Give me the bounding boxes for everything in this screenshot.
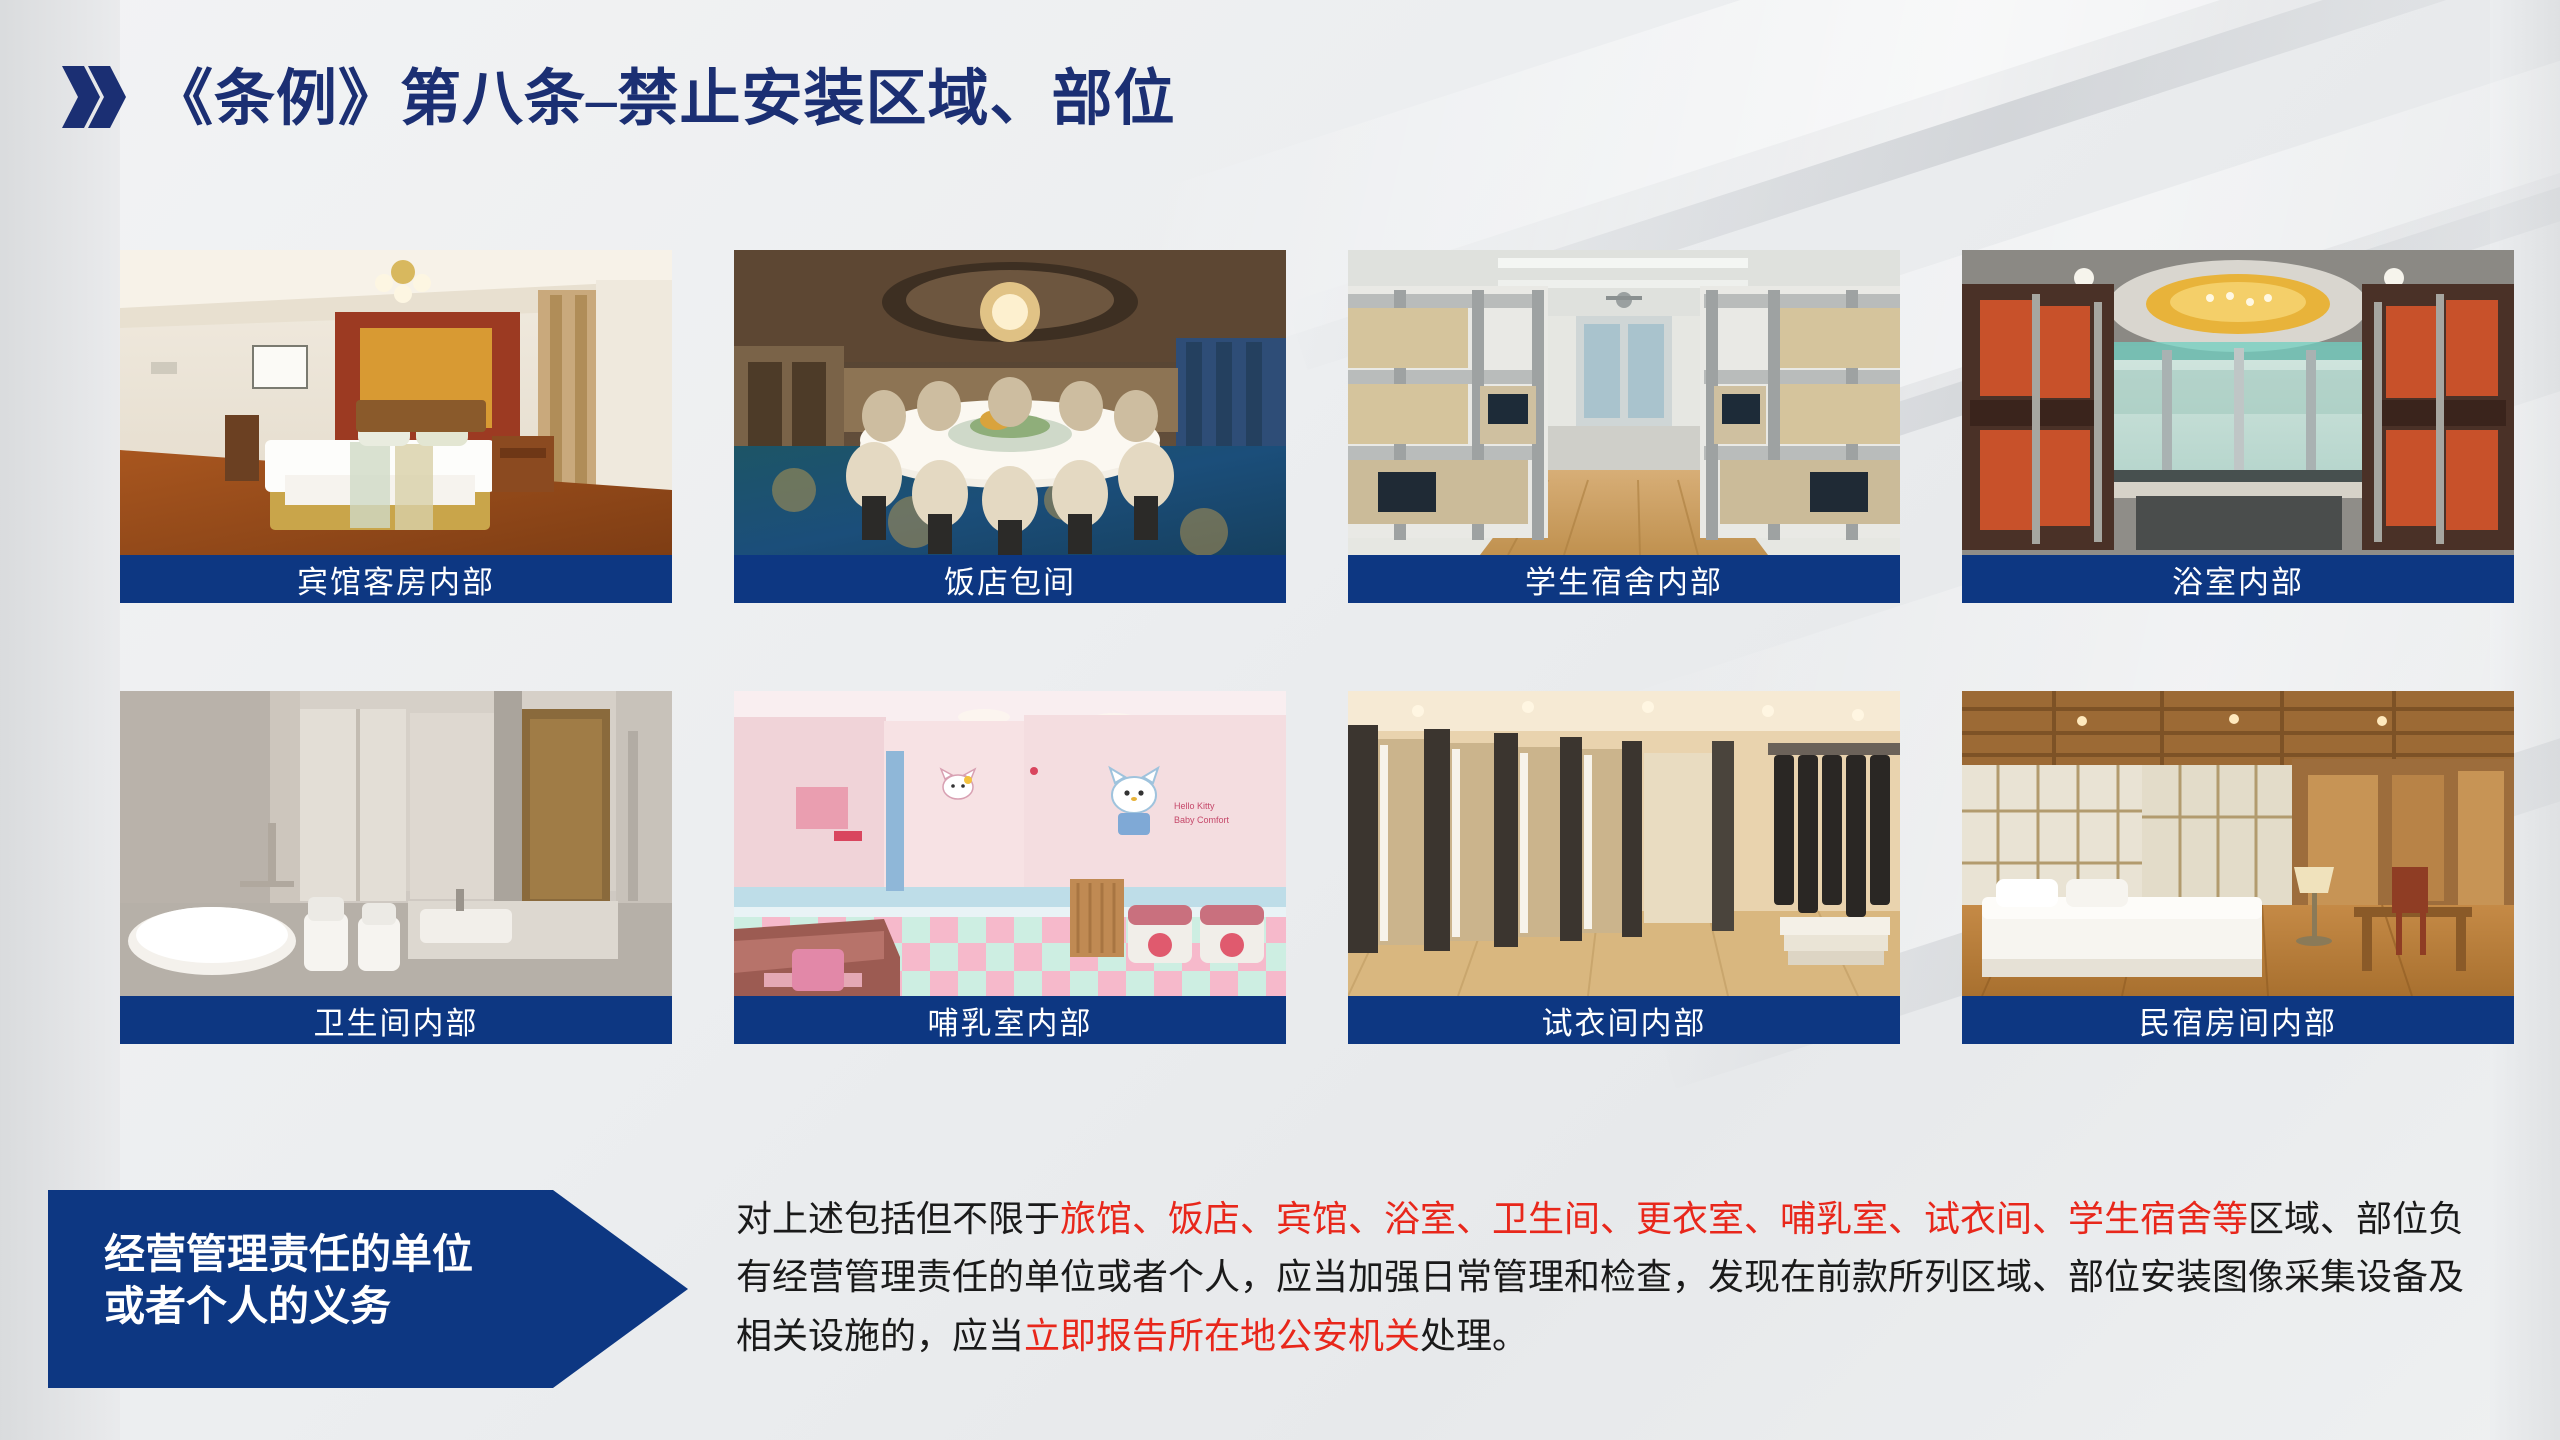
callout-label-line-1: 经营管理责任的单位 [104,1228,574,1280]
thumbnail-nursing-room: Hello Kitty Baby Comfort [734,691,1286,996]
image-grid-row-2: 卫生间内部 [120,691,2450,1044]
card-caption: 浴室内部 [1962,555,2514,603]
card-caption: 哺乳室内部 [734,996,1286,1044]
card-nursing-room[interactable]: Hello Kitty Baby Comfort [734,691,1286,1044]
card-homestay-bedroom[interactable]: 民宿房间内部 [1962,691,2514,1044]
card-bathhouse-shower-room[interactable]: 浴室内部 [1962,250,2514,603]
thumbnail-bathhouse-shower-room [1962,250,2514,555]
thumbnail-toilet-washroom [120,691,672,996]
card-caption: 学生宿舍内部 [1348,555,1900,603]
paragraph-highlight-run: 旅馆、饭店、宾馆、浴室、卫生间、更衣室、哺乳室、试衣间、学生宿舍等 [1060,1199,2248,1239]
callout-arrow-label: 经营管理责任的单位 或者个人的义务 [104,1228,574,1333]
image-grid-row-1: 宾馆客房内部 [120,250,2450,603]
page-title: 《条例》第八条–禁止安装区域、部位 [152,69,1176,130]
thumbnail-restaurant-private-room [734,250,1286,555]
card-student-dormitory[interactable]: 学生宿舍内部 [1348,250,1900,603]
card-caption: 试衣间内部 [1348,996,1900,1044]
thumbnail-hotel-guest-room [120,250,672,555]
card-hotel-guest-room[interactable]: 宾馆客房内部 [120,250,672,603]
card-caption: 宾馆客房内部 [120,555,672,603]
thumbnail-student-dormitory [1348,250,1900,555]
thumbnail-fitting-room [1348,691,1900,996]
card-toilet-washroom[interactable]: 卫生间内部 [120,691,672,1044]
callout-paragraph: 对上述包括但不限于旅馆、饭店、宾馆、浴室、卫生间、更衣室、哺乳室、试衣间、学生宿… [736,1190,2496,1365]
image-grid: 宾馆客房内部 [120,250,2450,1044]
paragraph-highlight-run: 立即报告所在地公安机关 [1024,1316,1420,1356]
paragraph-run: 处理。 [1420,1316,1528,1356]
card-caption: 民宿房间内部 [1962,996,2514,1044]
svg-text:Baby Comfort: Baby Comfort [1174,815,1230,825]
card-fitting-room[interactable]: 试衣间内部 [1348,691,1900,1044]
paragraph-run: 对上述包括但不限于 [736,1199,1060,1239]
thumbnail-homestay-bedroom [1962,691,2514,996]
callout-arrow-banner: 经营管理责任的单位 或者个人的义务 [48,1172,688,1407]
svg-text:Hello Kitty: Hello Kitty [1174,801,1215,811]
card-restaurant-private-room[interactable]: 饭店包间 [734,250,1286,603]
slide-header: 《条例》第八条–禁止安装区域、部位 [60,62,1176,137]
obligation-callout: 经营管理责任的单位 或者个人的义务 对上述包括但不限于旅馆、饭店、宾馆、浴室、卫… [48,1172,2508,1407]
double-chevron-right-icon [60,62,126,137]
slide-canvas: 《条例》第八条–禁止安装区域、部位 [0,0,2560,1440]
card-caption: 卫生间内部 [120,996,672,1044]
card-caption: 饭店包间 [734,555,1286,603]
callout-label-line-2: 或者个人的义务 [104,1280,574,1332]
